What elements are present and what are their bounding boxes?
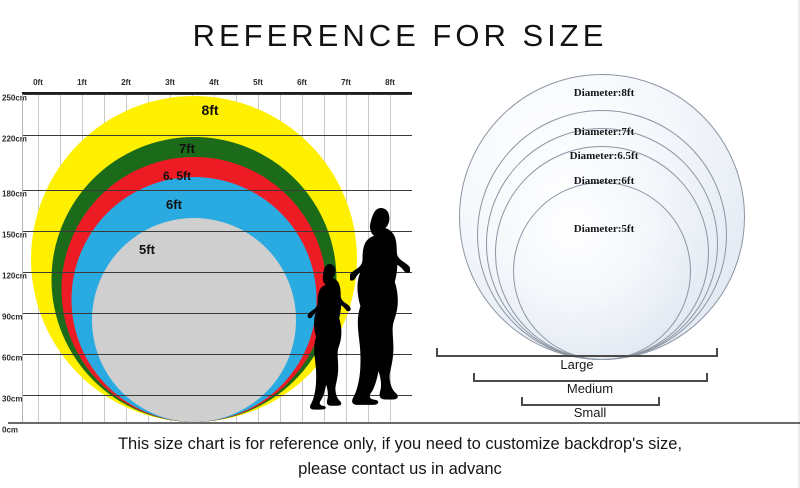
disc-label-6ft: Diameter:6ft	[574, 175, 634, 187]
y-tick-30cm: 30cm	[2, 395, 22, 404]
y-tick-60cm: 60cm	[2, 354, 22, 363]
child-silhouette	[304, 262, 352, 424]
adult-silhouette	[350, 206, 410, 424]
page-title: REFERENCE FOR SIZE	[0, 18, 800, 54]
size-reference-chart: REFERENCE FOR SIZE 0ft 1ft 2ft 3ft 4ft 5…	[0, 0, 800, 488]
y-tick-150cm: 150cm	[2, 231, 27, 240]
x-tick-1ft: 1ft	[77, 78, 87, 87]
circle-label-5ft: 5ft	[139, 242, 155, 257]
x-tick-3ft: 3ft	[165, 78, 175, 87]
y-tick-0cm: 0cm	[2, 426, 18, 435]
bracket-label-medium: Medium	[567, 381, 613, 396]
x-tick-4ft: 4ft	[209, 78, 219, 87]
bracket-label-large: Large	[560, 357, 593, 372]
bracket-large	[436, 348, 718, 357]
x-tick-2ft: 2ft	[121, 78, 131, 87]
x-tick-8ft: 8ft	[385, 78, 395, 87]
disc-5ft	[513, 182, 691, 360]
disc-label-8ft: Diameter:8ft	[574, 87, 634, 99]
y-tick-250cm: 250cm	[2, 94, 27, 103]
y-axis-line	[22, 94, 23, 424]
x-tick-7ft: 7ft	[341, 78, 351, 87]
disc-label-6-5ft: Diameter:6.5ft	[570, 150, 639, 162]
circle-label-7ft: 7ft	[179, 141, 195, 156]
caption-line-2: please contact us in advanc	[40, 457, 760, 482]
left-chart-panel: 0ft 1ft 2ft 3ft 4ft 5ft 6ft 7ft 8ft	[0, 72, 420, 432]
bracket-label-small: Small	[574, 405, 607, 420]
y-tick-90cm: 90cm	[2, 313, 22, 322]
x-tick-0ft: 0ft	[33, 78, 43, 87]
disc-label-7ft: Diameter:7ft	[574, 126, 634, 138]
y-tick-220cm: 220cm	[2, 135, 27, 144]
footer-caption: This size chart is for reference only, i…	[40, 432, 760, 482]
circle-5ft	[92, 218, 296, 422]
disc-label-5ft: Diameter:5ft	[574, 223, 634, 235]
plot-area: 8ft 7ft 6. 5ft 6ft 5ft	[22, 94, 412, 424]
x-tick-5ft: 5ft	[253, 78, 263, 87]
y-tick-180cm: 180cm	[2, 190, 27, 199]
circle-label-6-5ft: 6. 5ft	[163, 169, 191, 183]
baseline-0cm	[8, 422, 800, 424]
circle-label-8ft: 8ft	[201, 102, 218, 118]
caption-line-1: This size chart is for reference only, i…	[40, 432, 760, 457]
right-disc-panel: Diameter:8ft Diameter:7ft Diameter:6.5ft…	[420, 60, 800, 380]
circle-label-6ft: 6ft	[166, 197, 182, 212]
x-tick-6ft: 6ft	[297, 78, 307, 87]
y-tick-120cm: 120cm	[2, 272, 27, 281]
